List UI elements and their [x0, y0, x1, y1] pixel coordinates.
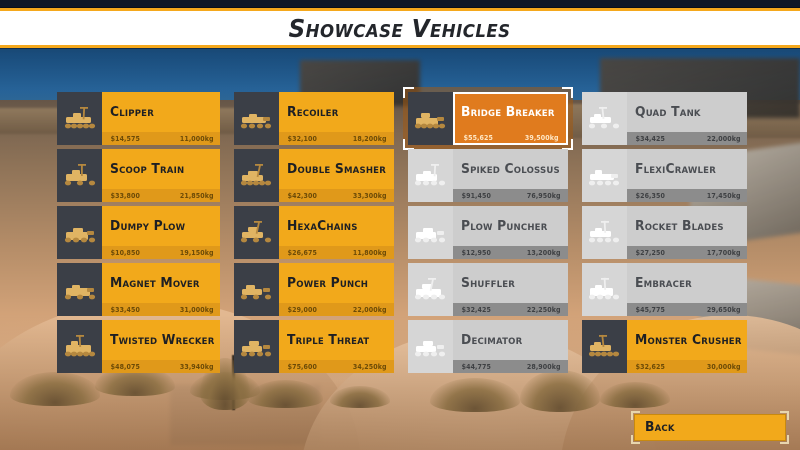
vehicle-info: Power Punch $29,000 22,000kg [279, 263, 394, 316]
vehicle-price: $33,800 [111, 192, 140, 200]
vehicle-stats-bar: $45,775 29,650kg [627, 303, 747, 316]
vehicle-thumbnail [234, 149, 279, 202]
vehicle-monster-crusher-icon [585, 333, 623, 361]
vehicle-thumbnail [408, 206, 453, 259]
vehicle-column-4: Quad Tank $34,425 22,000kg FlexiCrawler [582, 92, 747, 373]
vehicle-row[interactable]: Triple Threat $75,600 34,250kg [234, 320, 394, 373]
vehicle-weight: 28,900kg [527, 363, 561, 371]
vehicle-price: $55,625 [464, 134, 493, 142]
vehicle-weight: 11,800kg [353, 249, 387, 257]
vehicle-dumpy-plow-icon [61, 219, 99, 247]
vehicle-thumbnail [57, 263, 102, 316]
vehicle-magnet-mover-icon [61, 276, 99, 304]
vehicle-weight: 33,300kg [353, 192, 387, 200]
vehicle-row[interactable]: Dumpy Plow $10,850 19,150kg [57, 206, 220, 259]
vehicle-rocket-blades-icon [585, 219, 623, 247]
vehicle-column-1: Clipper $14,575 11,000kg Scoop Train [57, 92, 220, 373]
vehicle-name-bar: Double Smasher [279, 149, 394, 189]
vehicle-weight: 22,250kg [527, 306, 561, 314]
vehicle-info: Recoiler $32,100 18,200kg [279, 92, 394, 145]
vehicle-grid: Clipper $14,575 11,000kg Scoop Train [57, 92, 747, 373]
vehicle-price: $91,450 [462, 192, 491, 200]
vehicle-weight: 19,150kg [179, 249, 213, 257]
vehicle-flexicrawler-icon [585, 162, 623, 190]
vehicle-thumbnail [408, 149, 453, 202]
vehicle-thumbnail [57, 149, 102, 202]
vehicle-weight: 31,000kg [179, 306, 213, 314]
vehicle-info: Quad Tank $34,425 22,000kg [627, 92, 747, 145]
vehicle-name-bar: Shuffler [453, 263, 568, 303]
vehicle-weight: 39,500kg [525, 134, 559, 142]
vehicle-stats-bar: $75,600 34,250kg [279, 360, 394, 373]
vehicle-info: Embracer $45,775 29,650kg [627, 263, 747, 316]
vehicle-row[interactable]: FlexiCrawler $26,350 17,450kg [582, 149, 747, 202]
vehicle-price: $45,775 [635, 306, 664, 314]
vehicle-name: Monster Crusher [635, 333, 742, 348]
vehicle-thumbnail [408, 320, 453, 373]
vehicle-thumbnail [234, 92, 279, 145]
vehicle-price: $26,675 [288, 249, 317, 257]
vehicle-name-bar: Rocket Blades [627, 206, 747, 246]
vehicle-name-bar: Bridge Breaker [453, 92, 568, 132]
vehicle-name-bar: Quad Tank [627, 92, 747, 132]
vehicle-thumbnail [234, 320, 279, 373]
vehicle-info: Magnet Mover $33,450 31,000kg [102, 263, 220, 316]
vehicle-name: Clipper [110, 105, 154, 120]
vehicle-info: HexaChains $26,675 11,800kg [279, 206, 394, 259]
vehicle-row[interactable]: Plow Puncher $12,950 13,200kg [408, 206, 568, 259]
vehicle-thumbnail [582, 92, 627, 145]
vehicle-power-punch-icon [237, 276, 275, 304]
vehicle-name: Decimator [461, 333, 522, 348]
vehicle-price: $14,575 [111, 135, 140, 143]
page-title: Showcase Vehicles [289, 14, 511, 43]
vehicle-info: Bridge Breaker $55,625 39,500kg [453, 92, 568, 145]
vehicle-name: Twisted Wrecker [110, 333, 214, 348]
vehicle-thumbnail [408, 263, 453, 316]
vehicle-row[interactable]: Decimator $44,775 28,900kg [408, 320, 568, 373]
vehicle-name: FlexiCrawler [635, 162, 716, 177]
vehicle-price: $12,950 [462, 249, 491, 257]
vehicle-weight: 11,000kg [179, 135, 213, 143]
vehicle-stats-bar: $48,075 33,940kg [102, 360, 220, 373]
vehicle-weight: 18,200kg [353, 135, 387, 143]
vehicle-name-bar: Scoop Train [102, 149, 220, 189]
vehicle-name: Plow Puncher [461, 219, 547, 234]
vehicle-twisted-wrecker-icon [61, 333, 99, 361]
vehicle-row[interactable]: Recoiler $32,100 18,200kg [234, 92, 394, 145]
vehicle-weight: 13,200kg [527, 249, 561, 257]
vehicle-name: Magnet Mover [110, 276, 200, 291]
vehicle-price: $33,450 [111, 306, 140, 314]
vehicle-thumbnail [408, 92, 453, 145]
vehicle-price: $75,600 [288, 363, 317, 371]
vehicle-price: $48,075 [111, 363, 140, 371]
vehicle-row[interactable]: Magnet Mover $33,450 31,000kg [57, 263, 220, 316]
vehicle-stats-bar: $34,425 22,000kg [627, 132, 747, 145]
vehicle-stats-bar: $32,100 18,200kg [279, 132, 394, 145]
vehicle-stats-bar: $26,675 11,800kg [279, 246, 394, 259]
vehicle-decimator-icon [411, 333, 449, 361]
vehicle-name: Spiked Colossus [461, 162, 560, 177]
vehicle-weight: 22,000kg [353, 306, 387, 314]
vehicle-name: Rocket Blades [635, 219, 724, 234]
vehicle-triple-threat-icon [237, 333, 275, 361]
vehicle-stats-bar: $32,425 22,250kg [453, 303, 568, 316]
vehicle-price: $42,300 [288, 192, 317, 200]
vehicle-thumbnail [234, 206, 279, 259]
vehicle-row[interactable]: Twisted Wrecker $48,075 33,940kg [57, 320, 220, 373]
vehicle-price: $32,100 [288, 135, 317, 143]
vehicle-name: Bridge Breaker [461, 105, 555, 120]
vehicle-row[interactable]: Double Smasher $42,300 33,300kg [234, 149, 394, 202]
vehicle-stats-bar: $33,800 21,850kg [102, 189, 220, 202]
vehicle-name: HexaChains [287, 219, 358, 234]
vehicle-stats-bar: $12,950 13,200kg [453, 246, 568, 259]
vehicle-bridge-breaker-icon [411, 105, 449, 133]
vehicle-info: Triple Threat $75,600 34,250kg [279, 320, 394, 373]
vehicle-stats-bar: $55,625 39,500kg [453, 132, 568, 145]
vehicle-price: $29,000 [288, 306, 317, 314]
vehicle-name-bar: Embracer [627, 263, 747, 303]
vehicle-name: Embracer [635, 276, 692, 291]
vehicle-weight: 76,950kg [527, 192, 561, 200]
page-header: Showcase Vehicles [0, 8, 800, 48]
vehicle-row[interactable]: HexaChains $26,675 11,800kg [234, 206, 394, 259]
vehicle-thumbnail [582, 263, 627, 316]
vehicle-name: Shuffler [461, 276, 515, 291]
vehicle-stats-bar: $42,300 33,300kg [279, 189, 394, 202]
vehicle-row[interactable]: Scoop Train $33,800 21,850kg [57, 149, 220, 202]
vehicle-info: Spiked Colossus $91,450 76,950kg [453, 149, 568, 202]
vehicle-thumbnail [234, 263, 279, 316]
vehicle-info: Dumpy Plow $10,850 19,150kg [102, 206, 220, 259]
vehicle-row[interactable]: Power Punch $29,000 22,000kg [234, 263, 394, 316]
vehicle-stats-bar: $27,250 17,700kg [627, 246, 747, 259]
vehicle-row[interactable]: Embracer $45,775 29,650kg [582, 263, 747, 316]
vehicle-price: $32,625 [635, 363, 664, 371]
vehicle-weight: 33,940kg [179, 363, 213, 371]
vehicle-name-bar: Clipper [102, 92, 220, 132]
vehicle-name: Recoiler [287, 105, 338, 120]
vehicle-name-bar: Triple Threat [279, 320, 394, 360]
vehicle-clipper-icon [61, 105, 99, 133]
vehicle-name: Scoop Train [110, 162, 184, 177]
vehicle-weight: 30,000kg [706, 363, 740, 371]
vehicle-name-bar: Recoiler [279, 92, 394, 132]
vehicle-name: Dumpy Plow [110, 219, 185, 234]
vehicle-row[interactable]: Shuffler $32,425 22,250kg [408, 263, 568, 316]
vehicle-shuffler-icon [411, 276, 449, 304]
vehicle-stats-bar: $14,575 11,000kg [102, 132, 220, 145]
vehicle-name: Double Smasher [287, 162, 386, 177]
vehicle-name-bar: Spiked Colossus [453, 149, 568, 189]
vehicle-name-bar: Power Punch [279, 263, 394, 303]
vehicle-thumbnail [57, 92, 102, 145]
vehicle-name-bar: Decimator [453, 320, 568, 360]
vehicle-stats-bar: $91,450 76,950kg [453, 189, 568, 202]
vehicle-row[interactable]: Clipper $14,575 11,000kg [57, 92, 220, 145]
vehicle-price: $27,250 [635, 249, 664, 257]
vehicle-quad-tank-icon [585, 105, 623, 133]
vehicle-name-bar: Plow Puncher [453, 206, 568, 246]
vehicle-stats-bar: $26,350 17,450kg [627, 189, 747, 202]
vehicle-info: Twisted Wrecker $48,075 33,940kg [102, 320, 220, 373]
vehicle-weight: 21,850kg [179, 192, 213, 200]
vehicle-price: $10,850 [111, 249, 140, 257]
vehicle-hexachains-icon [237, 219, 275, 247]
back-button[interactable]: Back [634, 414, 786, 441]
vehicle-stats-bar: $29,000 22,000kg [279, 303, 394, 316]
vehicle-info: Plow Puncher $12,950 13,200kg [453, 206, 568, 259]
vehicle-column-2: Recoiler $32,100 18,200kg Double Smasher [234, 92, 394, 373]
vehicle-row[interactable]: Bridge Breaker $55,625 39,500kg [408, 92, 568, 145]
vehicle-stats-bar: $32,625 30,000kg [627, 360, 747, 373]
vehicle-name-bar: Magnet Mover [102, 263, 220, 303]
vehicle-spiked-colossus-icon [411, 162, 449, 190]
vehicle-name-bar: Monster Crusher [627, 320, 747, 360]
vehicle-name-bar: FlexiCrawler [627, 149, 747, 189]
vehicle-row[interactable]: Quad Tank $34,425 22,000kg [582, 92, 747, 145]
vehicle-embracer-icon [585, 276, 623, 304]
vehicle-price: $34,425 [635, 135, 664, 143]
vehicle-info: Monster Crusher $32,625 30,000kg [627, 320, 747, 373]
vehicle-name-bar: HexaChains [279, 206, 394, 246]
vehicle-scoop-train-icon [61, 162, 99, 190]
vehicle-weight: 29,650kg [706, 306, 740, 314]
vehicle-info: Rocket Blades $27,250 17,700kg [627, 206, 747, 259]
vehicle-info: FlexiCrawler $26,350 17,450kg [627, 149, 747, 202]
vehicle-thumbnail [582, 149, 627, 202]
vehicle-name: Power Punch [287, 276, 368, 291]
vehicle-info: Scoop Train $33,800 21,850kg [102, 149, 220, 202]
vehicle-price: $44,775 [462, 363, 491, 371]
vehicle-thumbnail [582, 206, 627, 259]
vehicle-row[interactable]: Monster Crusher $32,625 30,000kg [582, 320, 747, 373]
vehicle-price: $26,350 [635, 192, 664, 200]
vehicle-info: Double Smasher $42,300 33,300kg [279, 149, 394, 202]
vehicle-info: Shuffler $32,425 22,250kg [453, 263, 568, 316]
vehicle-double-smasher-icon [237, 162, 275, 190]
vehicle-weight: 34,250kg [353, 363, 387, 371]
vehicle-thumbnail [57, 320, 102, 373]
vehicle-name: Triple Threat [287, 333, 369, 348]
vehicle-price: $32,425 [462, 306, 491, 314]
vehicle-thumbnail [582, 320, 627, 373]
vehicle-info: Decimator $44,775 28,900kg [453, 320, 568, 373]
vehicle-weight: 17,450kg [706, 192, 740, 200]
vehicle-recoiler-icon [237, 105, 275, 133]
vehicle-name: Quad Tank [635, 105, 701, 120]
vehicle-stats-bar: $33,450 31,000kg [102, 303, 220, 316]
vehicle-weight: 17,700kg [706, 249, 740, 257]
vehicle-name-bar: Dumpy Plow [102, 206, 220, 246]
vehicle-thumbnail [57, 206, 102, 259]
vehicle-stats-bar: $10,850 19,150kg [102, 246, 220, 259]
vehicle-row[interactable]: Rocket Blades $27,250 17,700kg [582, 206, 747, 259]
vehicle-info: Clipper $14,575 11,000kg [102, 92, 220, 145]
vehicle-column-3: Bridge Breaker $55,625 39,500kg Spiked C… [408, 92, 568, 373]
vehicle-stats-bar: $44,775 28,900kg [453, 360, 568, 373]
vehicle-plow-puncher-icon [411, 219, 449, 247]
vehicle-row[interactable]: Spiked Colossus $91,450 76,950kg [408, 149, 568, 202]
back-button-label: Back [645, 420, 675, 435]
vehicle-name-bar: Twisted Wrecker [102, 320, 220, 360]
vehicle-weight: 22,000kg [706, 135, 740, 143]
